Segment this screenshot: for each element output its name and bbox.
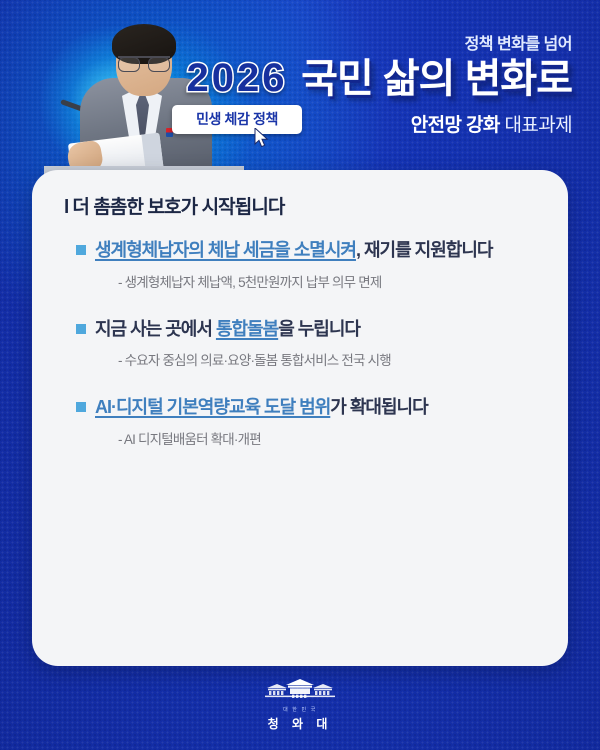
policy-list: 생계형체납자의 체납 세금을 소멸시켜, 재기를 지원합니다 - 생계형체납자 … bbox=[76, 238, 544, 448]
eyebrow-text: 정책 변화를 넘어 bbox=[301, 30, 572, 54]
headline-group: 정책 변화를 넘어 국민 삶의 변화로 안전망 강화 대표과제 bbox=[301, 30, 572, 137]
subtitle-light: 대표과제 bbox=[504, 115, 572, 136]
poster-header: 2026 민생 체감 정책 정책 변화를 넘어 국민 삶의 변화로 안전망 강화… bbox=[0, 0, 600, 175]
list-item: 생계형체납자의 체납 세금을 소멸시켜, 재기를 지원합니다 - 생계형체납자 … bbox=[76, 238, 544, 291]
title-bar-mark: l bbox=[64, 197, 68, 219]
policy-highlight: 생계형체납자의 체납 세금을 소멸시켜 bbox=[95, 240, 356, 260]
emblem-country-text: 대 한 민 국 bbox=[283, 706, 317, 713]
policy-highlight: 통합돌봄 bbox=[216, 319, 278, 339]
policy-detail: - AI 디지털배움터 확대·개편 bbox=[118, 428, 544, 448]
poster-canvas: 2026 민생 체감 정책 정책 변화를 넘어 국민 삶의 변화로 안전망 강화… bbox=[0, 0, 600, 750]
content-card: l더 촘촘한 보호가 시작됩니다 생계형체납자의 체납 세금을 소멸시켜, 재기… bbox=[32, 170, 568, 666]
square-bullet-icon bbox=[76, 245, 86, 255]
square-bullet-icon bbox=[76, 402, 86, 412]
header-subtitle: 안전망 강화 대표과제 bbox=[301, 110, 572, 137]
policy-heading-text: AI·디지털 기본역량교육 도달 범위가 확대됩니다 bbox=[95, 395, 428, 421]
policy-badge: 민생 체감 정책 bbox=[172, 105, 302, 134]
policy-lead: 지금 사는 곳에서 bbox=[95, 319, 216, 339]
list-item: AI·디지털 기본역량교육 도달 범위가 확대됩니다 - AI 디지털배움터 확… bbox=[76, 395, 544, 448]
policy-detail: - 수요자 중심의 의료·요양·돌봄 통합서비스 전국 시행 bbox=[118, 349, 544, 369]
policy-heading: AI·디지털 기본역량교육 도달 범위가 확대됩니다 bbox=[76, 395, 544, 421]
policy-heading-text: 생계형체납자의 체납 세금을 소멸시켜, 재기를 지원합니다 bbox=[95, 238, 492, 264]
card-title-text: 더 촘촘한 보호가 시작됩니다 bbox=[72, 197, 284, 218]
policy-heading: 생계형체납자의 체납 세금을 소멸시켜, 재기를 지원합니다 bbox=[76, 238, 544, 264]
subtitle-strong: 안전망 강화 bbox=[411, 115, 500, 136]
policy-rest: , 재기를 지원합니다 bbox=[356, 240, 492, 260]
policy-rest: 가 확대됩니다 bbox=[330, 397, 427, 417]
year-label: 2026 bbox=[172, 58, 302, 98]
main-title: 국민 삶의 변화로 bbox=[301, 58, 572, 100]
mouse-pointer-icon bbox=[254, 128, 270, 148]
eyeglasses-icon bbox=[118, 56, 170, 69]
square-bullet-icon bbox=[76, 324, 86, 334]
blue-house-emblem-icon bbox=[257, 678, 343, 704]
list-item: 지금 사는 곳에서 통합돌봄을 누립니다 - 수요자 중심의 의료·요양·돌봄 … bbox=[76, 317, 544, 370]
policy-heading: 지금 사는 곳에서 통합돌봄을 누립니다 bbox=[76, 317, 544, 343]
emblem-name-text: 청 와 대 bbox=[268, 715, 333, 732]
card-title: l더 촘촘한 보호가 시작됩니다 bbox=[64, 192, 285, 219]
year-badge-group: 2026 민생 체감 정책 bbox=[172, 58, 302, 134]
policy-detail: - 생계형체납자 체납액, 5천만원까지 납부 의무 면제 bbox=[118, 271, 544, 291]
policy-rest: 을 누립니다 bbox=[278, 319, 360, 339]
policy-highlight: AI·디지털 기본역량교육 도달 범위 bbox=[95, 397, 330, 417]
footer-emblem-group: 대 한 민 국 청 와 대 bbox=[0, 678, 600, 732]
policy-heading-text: 지금 사는 곳에서 통합돌봄을 누립니다 bbox=[95, 317, 360, 343]
